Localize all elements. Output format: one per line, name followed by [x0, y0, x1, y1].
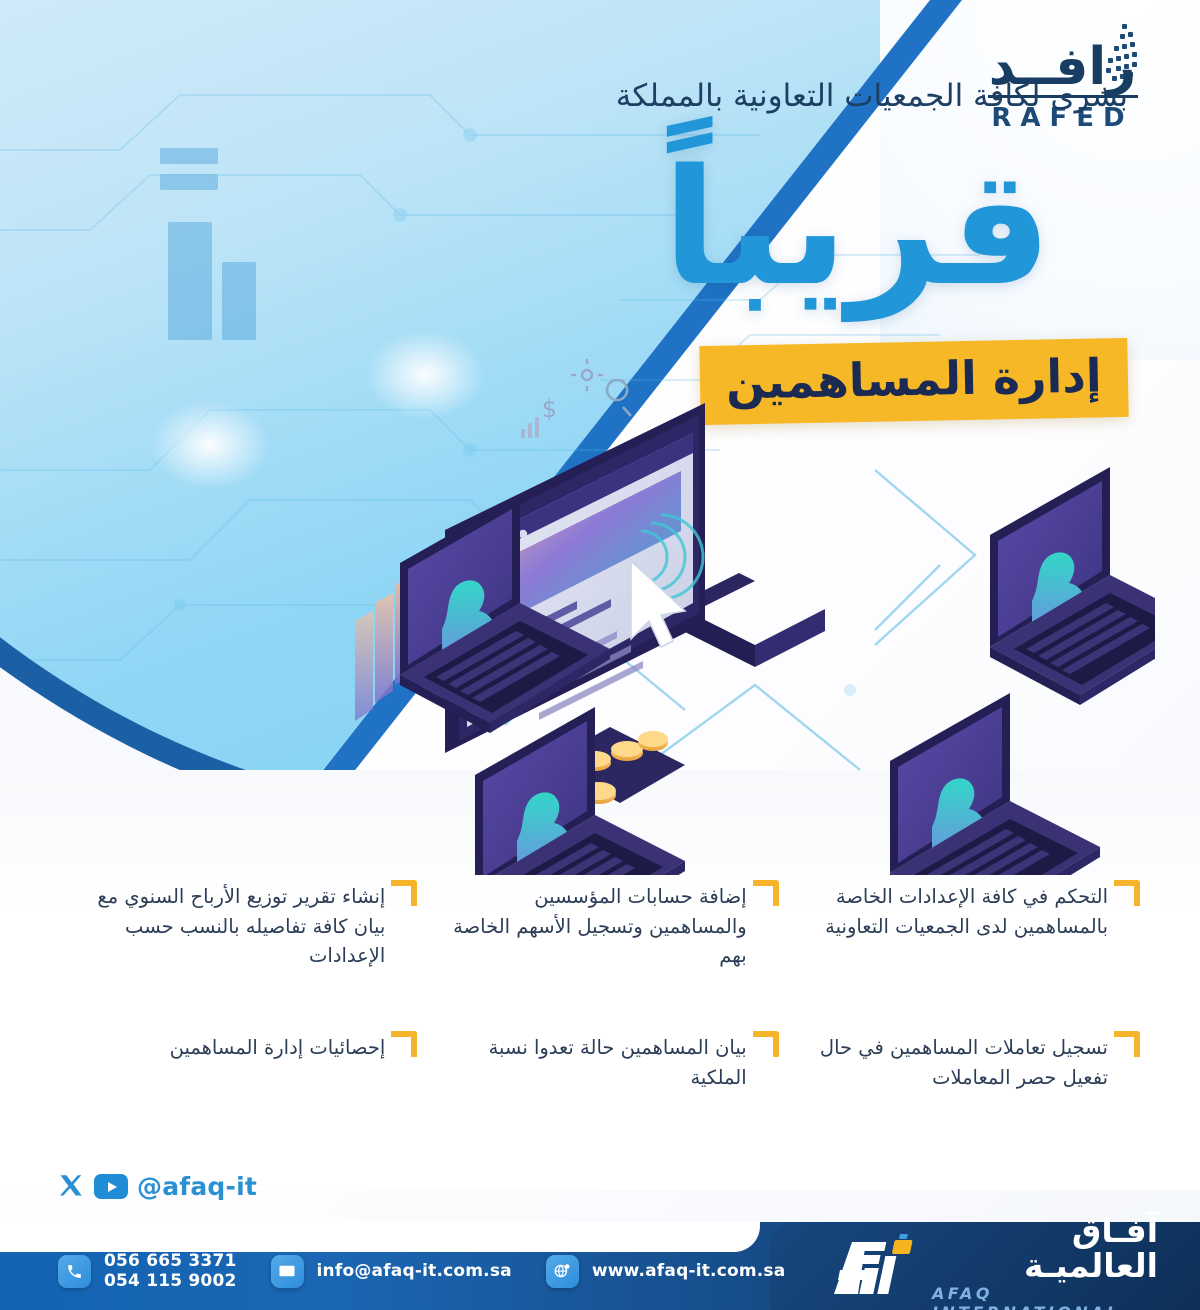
feature-text: إنشاء تقرير توزيع الأرباح السنوي مع بيان…: [72, 882, 385, 971]
afaq-name-latin: AFAQ INTERNATIONAL: [932, 1284, 1158, 1310]
social-row: @afaq-it: [58, 1172, 257, 1201]
feature-item: التحكم في كافة الإعدادات الخاصة بالمساهم…: [781, 878, 1142, 971]
afaq-name-arabic: آفـاق العالميـة: [932, 1214, 1158, 1283]
contact-email[interactable]: info@afaq-it.com.sa: [271, 1255, 512, 1288]
email-address: info@afaq-it.com.sa: [317, 1261, 512, 1281]
svg-text:$: $: [542, 395, 557, 423]
feature-text: تسجيل تعاملات المساهمين في حال تفعيل حصر…: [795, 1033, 1108, 1092]
feature-item: إنشاء تقرير توزيع الأرباح السنوي مع بيان…: [58, 878, 419, 971]
x-twitter-icon[interactable]: [58, 1173, 85, 1200]
corner-bracket-icon: [1114, 1031, 1140, 1057]
feature-item: تسجيل تعاملات المساهمين في حال تفعيل حصر…: [781, 1029, 1142, 1092]
phone-icon: [58, 1255, 91, 1288]
phone-line-2: 054 115 9002: [104, 1271, 237, 1291]
feature-item: إضافة حسابات المؤسسين والمساهمين وتسجيل …: [419, 878, 780, 971]
feature-item: بيان المساهمين حالة تعدوا نسبة الملكية: [419, 1029, 780, 1092]
headline: بشرى لكافة الجمعيات التعاونية بالمملكة: [616, 78, 1128, 114]
youtube-icon[interactable]: [94, 1174, 128, 1199]
isometric-illustration: $: [355, 355, 1155, 875]
feature-item: إحصائيات إدارة المساهمين: [58, 1029, 419, 1092]
contact-info: 056 665 3371 054 115 9002 info@afaq-it.c…: [58, 1243, 785, 1299]
laptop-bottom-right: [890, 693, 1100, 875]
afaq-logo: آفـاق العالميـة AFAQ INTERNATIONAL: [828, 1232, 1158, 1304]
phone-numbers: 056 665 3371 054 115 9002: [104, 1251, 237, 1291]
contact-phone[interactable]: 056 665 3371 054 115 9002: [58, 1251, 237, 1291]
corner-bracket-icon: [391, 880, 417, 906]
corner-bracket-icon: [753, 880, 779, 906]
social-handle[interactable]: @afaq-it: [137, 1172, 257, 1201]
afaq-monogram-icon: [828, 1234, 920, 1302]
phone-line-1: 056 665 3371: [104, 1251, 237, 1271]
corner-bracket-icon: [391, 1031, 417, 1057]
floating-ui-icons: $: [521, 359, 631, 438]
page-title: قريباً: [662, 148, 1052, 308]
contact-website[interactable]: www.afaq-it.com.sa: [546, 1255, 786, 1288]
laptop-top-right: [990, 467, 1155, 705]
envelope-icon: [271, 1255, 304, 1288]
feature-grid: التحكم في كافة الإعدادات الخاصة بالمساهم…: [0, 878, 1200, 1092]
corner-bracket-icon: [1114, 880, 1140, 906]
website-url: www.afaq-it.com.sa: [592, 1261, 786, 1281]
corner-bracket-icon: [753, 1031, 779, 1057]
afaq-wordmarks: آفـاق العالميـة AFAQ INTERNATIONAL: [932, 1214, 1158, 1310]
infographic-poster: رافــد RAFED بشرى لكافة الجمعيات التعاون…: [0, 0, 1200, 1310]
feature-text: إحصائيات إدارة المساهمين: [72, 1033, 385, 1063]
feature-text: إضافة حسابات المؤسسين والمساهمين وتسجيل …: [433, 882, 746, 971]
globe-icon: [546, 1255, 579, 1288]
feature-text: بيان المساهمين حالة تعدوا نسبة الملكية: [433, 1033, 746, 1092]
feature-text: التحكم في كافة الإعدادات الخاصة بالمساهم…: [795, 882, 1108, 941]
